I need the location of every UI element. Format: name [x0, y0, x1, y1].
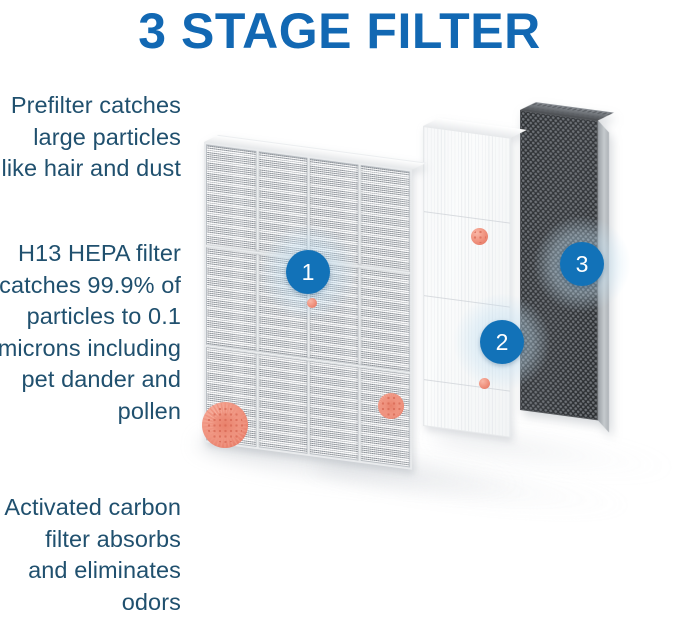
description-hepa: H13 HEPA filter catches 99.9% of particl…: [0, 238, 181, 427]
pollen-tiny-hepa-lower: [479, 378, 490, 389]
pollen-tiny-mesh: [307, 298, 317, 308]
stage-3-badge[interactable]: 3: [560, 242, 604, 286]
pollen-medium-center: [378, 393, 404, 419]
grid-bar-vertical: [256, 151, 259, 447]
pollen-large-left: [202, 402, 248, 448]
hepa-seam: [424, 211, 510, 223]
grid-bar-horizontal: [206, 344, 410, 374]
pollen-texture: [473, 230, 487, 244]
pollen-small-hepa-upper: [471, 228, 488, 245]
grid-bar-vertical: [358, 165, 361, 461]
filter-stack-illustration: 1 2 3: [190, 120, 679, 540]
stage-2-badge[interactable]: 2: [480, 320, 524, 364]
description-carbon: Activated carbon filter absorbs and elim…: [0, 492, 181, 618]
hepa-white-panel: [423, 126, 511, 438]
page-title: 3 STAGE FILTER: [0, 2, 679, 60]
description-prefilter: Prefilter catches large particles like h…: [0, 90, 181, 185]
hepa-pleated-face: [423, 126, 511, 438]
stage-1-badge[interactable]: 1: [286, 250, 330, 294]
